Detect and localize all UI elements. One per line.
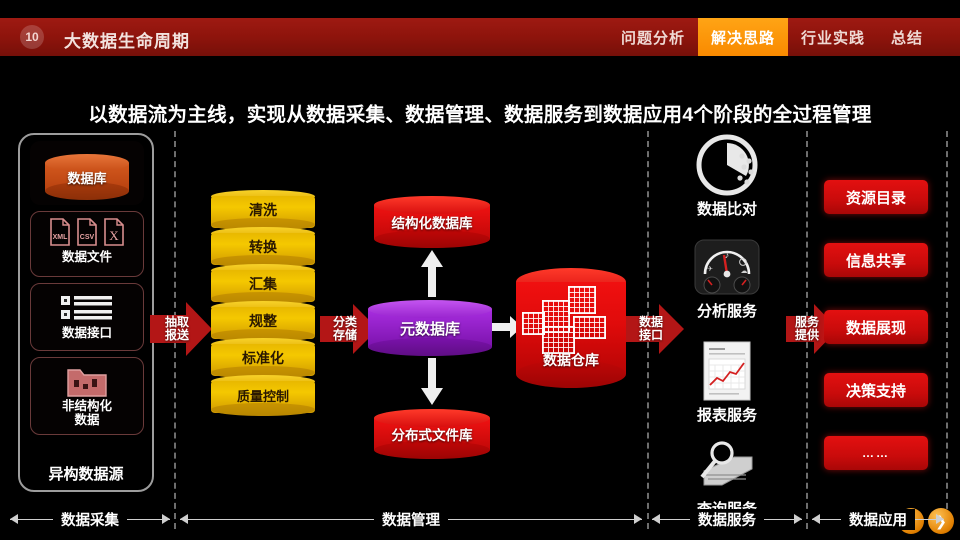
stack-layer-label: 规整 — [211, 305, 315, 337]
slide-number-badge: 10 — [20, 25, 44, 49]
source-item-unstructured[interactable]: 非结构化 数据 — [30, 357, 144, 435]
csv-file-icon: CSV — [76, 218, 98, 246]
service-item-analysis[interactable]: ♪ ✈ ☁ 分析服务 — [662, 236, 792, 321]
donut-chart-icon — [662, 134, 792, 196]
slide-header: 10 大数据生命周期 问题分析 解决思路 行业实践 总结 — [0, 18, 960, 56]
excel-file-icon: X — [103, 218, 125, 246]
source-item-database[interactable]: 数据库 — [30, 141, 144, 205]
processing-stack: 清洗 转换 汇集 规整 标准化 质量控制 — [211, 190, 315, 412]
file-icons: XML CSV X — [31, 212, 143, 246]
phase-data-management: 数据管理 — [180, 506, 642, 532]
service-label-analysis: 分析服务 — [662, 300, 792, 321]
source-panel-title: 异构数据源 — [20, 463, 152, 484]
stack-layer[interactable]: 质量控制 — [211, 375, 315, 416]
tab-summary[interactable]: 总结 — [878, 18, 936, 56]
source-label-unstructured: 非结构化 数据 — [31, 399, 143, 428]
tab-industry-practice[interactable]: 行业实践 — [788, 18, 878, 56]
phase-label-data-management: 数据管理 — [374, 509, 448, 530]
source-item-data-interface[interactable]: 数据接口 — [30, 283, 144, 351]
distributed-file-database-cylinder[interactable]: 分布式文件库 — [374, 409, 490, 459]
app-button-resource-catalog[interactable]: 资源目录 — [824, 180, 928, 214]
stack-layer-label: 质量控制 — [211, 379, 315, 411]
svg-text:CSV: CSV — [80, 234, 95, 241]
app-button-data-presentation[interactable]: 数据展现 — [824, 310, 928, 344]
data-interface-arrow-label: 数据 接口 — [639, 316, 671, 342]
svg-text:♪: ♪ — [725, 250, 730, 260]
stack-layer-label: 汇集 — [211, 268, 315, 300]
classify-store-arrow-label: 分类 存储 — [333, 316, 365, 342]
phase-label-data-application: 数据应用 — [841, 509, 915, 530]
source-item-data-file[interactable]: XML CSV X 数 — [30, 211, 144, 277]
service-label-report: 报表服务 — [662, 404, 792, 425]
source-label-database: 数据库 — [45, 154, 129, 200]
stack-layer[interactable]: 清洗 — [211, 190, 315, 231]
gauge-dashboard-icon: ♪ ✈ ☁ — [662, 236, 792, 298]
app-button-info-sharing[interactable]: 信息共享 — [824, 243, 928, 277]
heterogeneous-source-panel: 数据库 XML CSV — [18, 133, 154, 492]
structured-database-cylinder[interactable]: 结构化数据库 — [374, 196, 490, 248]
stack-layer-label: 清洗 — [211, 194, 315, 226]
svg-text:☁: ☁ — [741, 268, 748, 275]
stack-layer[interactable]: 规整 — [211, 301, 315, 342]
metadata-to-structured-arrow — [420, 249, 444, 297]
extract-report-arrow-label: 抽取 报送 — [165, 316, 197, 342]
stack-layer[interactable]: 标准化 — [211, 338, 315, 379]
data-warehouse-label: 数据仓库 — [516, 350, 626, 370]
list-interface-icon — [31, 284, 143, 323]
report-chart-icon — [662, 340, 792, 402]
service-label-data-comparison: 数据比对 — [662, 198, 792, 219]
distributed-file-database-label: 分布式文件库 — [374, 409, 490, 459]
svg-text:X: X — [109, 228, 119, 243]
structured-database-label: 结构化数据库 — [374, 196, 490, 248]
stack-layer-label: 标准化 — [211, 342, 315, 374]
svg-text:✈: ✈ — [707, 266, 713, 273]
header-title: 大数据生命周期 — [64, 27, 190, 52]
phase-label-data-collection: 数据采集 — [53, 509, 127, 530]
phase-data-collection: 数据采集 — [10, 506, 170, 532]
xml-file-icon: XML — [49, 218, 71, 246]
svg-text:XML: XML — [53, 234, 69, 241]
tab-solution-approach[interactable]: 解决思路 — [698, 18, 788, 56]
extract-report-arrow: 抽取 报送 — [150, 298, 212, 360]
data-warehouse-cylinder[interactable]: 数据仓库 — [516, 268, 626, 388]
stack-layer[interactable]: 汇集 — [211, 264, 315, 305]
service-item-data-comparison[interactable]: 数据比对 — [662, 134, 792, 219]
phase-label-data-service: 数据服务 — [690, 509, 764, 530]
phase-divider-4 — [946, 131, 948, 529]
app-button-decision-support[interactable]: 决策支持 — [824, 373, 928, 407]
stack-layer-label: 转换 — [211, 231, 315, 263]
magnifier-document-icon — [662, 434, 792, 496]
metadata-database-cylinder[interactable]: 元数据库 — [368, 300, 492, 356]
page-title: 以数据流为主线，实现从数据采集、数据管理、数据服务到数据应用4个阶段的全过程管理 — [0, 98, 960, 127]
phase-data-service: 数据服务 — [652, 506, 802, 532]
database-cylinder-icon: 数据库 — [45, 154, 129, 200]
slide-canvas: 10 大数据生命周期 问题分析 解决思路 行业实践 总结 以数据流为主线，实现从… — [0, 0, 960, 540]
service-item-report[interactable]: 报表服务 — [662, 340, 792, 425]
metadata-database-label: 元数据库 — [368, 300, 492, 356]
phase-data-application: 数据应用 — [812, 506, 944, 532]
stack-layer[interactable]: 转换 — [211, 227, 315, 268]
source-label-data-file: 数据文件 — [31, 250, 143, 264]
source-label-data-interface: 数据接口 — [31, 326, 143, 340]
service-provide-arrow-label: 服务 提供 — [795, 316, 829, 342]
header-nav: 问题分析 解决思路 行业实践 总结 — [608, 18, 936, 56]
unstructured-data-icon — [31, 358, 143, 398]
tab-problem-analysis[interactable]: 问题分析 — [608, 18, 698, 56]
app-button-more[interactable]: …… — [824, 436, 928, 470]
metadata-to-distributed-arrow — [420, 358, 444, 406]
